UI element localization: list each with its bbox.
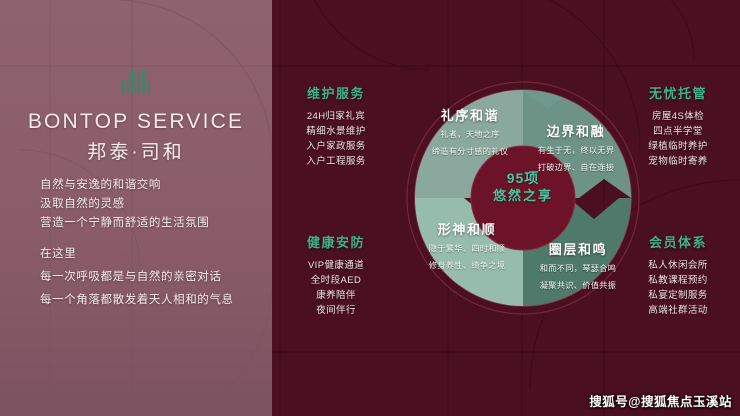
service-item: 入户家政服务 bbox=[288, 139, 384, 154]
service-title: 维护服务 bbox=[288, 83, 384, 102]
tagline-line: 每一次呼吸都是与自然的亲密对话 bbox=[40, 266, 260, 289]
service-item: 全时段AED bbox=[288, 273, 384, 288]
service-title: 无忧托管 bbox=[630, 83, 726, 102]
service-item: 康养陪伴 bbox=[288, 288, 384, 303]
hub-count: 95项 bbox=[473, 169, 573, 187]
tagline-line: 在这里 bbox=[40, 243, 260, 266]
quadrant-title: 边界和融 bbox=[516, 121, 636, 140]
quadrant-title: 形神和顺 bbox=[406, 219, 528, 238]
quadrant-label-bottom-right: 圈层和鸣 和而不同，琴瑟合鸣 凝聚共识、价值共振 bbox=[516, 239, 640, 292]
service-column-member[interactable]: 会员体系 私人休闲会所 私教课程预约 私宴定制服务 高端社群活动 bbox=[630, 232, 726, 318]
service-title: 会员体系 bbox=[630, 232, 726, 251]
service-item: 绿植临时养护 bbox=[630, 139, 726, 154]
tagline-line: 营造一个宁静而舒适的生活氛围 bbox=[40, 214, 260, 233]
watermark: 搜狐号@搜狐焦点玉溪站 bbox=[589, 391, 732, 410]
quadrant-line: 礼者，天地之序 bbox=[410, 128, 530, 141]
service-item: 入户工程服务 bbox=[288, 154, 384, 169]
slide-canvas: BONTOP SERVICE 邦泰·司和 自然与安逸的和谐交响 汲取自然的灵感 … bbox=[0, 0, 740, 416]
quadrant-label-top-right: 边界和融 有生于无，终以无界 打破边界、自在连接 bbox=[516, 121, 636, 174]
quadrant-title: 圈层和鸣 bbox=[516, 239, 640, 258]
service-item: 高端社群活动 bbox=[630, 303, 726, 318]
left-brand-panel: BONTOP SERVICE 邦泰·司和 自然与安逸的和谐交响 汲取自然的灵感 … bbox=[0, 0, 272, 416]
brand-name-en: BONTOP SERVICE bbox=[0, 110, 272, 134]
service-column-maintenance[interactable]: 维护服务 24H归家礼宾 精细水景维护 入户家政服务 入户工程服务 bbox=[288, 83, 384, 169]
service-item: 精细水景维护 bbox=[288, 124, 384, 139]
service-item: 宠物临时寄养 bbox=[630, 154, 726, 169]
quadrant-label-bottom-left: 形神和顺 隐于繁华、四时和顺 修身养性、绮争之境 bbox=[406, 219, 528, 272]
service-column-custody[interactable]: 无忧托管 房屋4S体检 四点半学堂 绿植临时养护 宠物临时寄养 bbox=[630, 83, 726, 169]
quadrant-line: 隐于繁华、四时和顺 bbox=[406, 242, 528, 255]
service-item: 房屋4S体检 bbox=[630, 109, 726, 124]
wheel-hub-text: 95项 悠然之享 bbox=[473, 169, 573, 205]
service-item: 四点半学堂 bbox=[630, 124, 726, 139]
quadrant-line: 和而不同，琴瑟合鸣 bbox=[516, 262, 640, 275]
service-item: 夜间伴行 bbox=[288, 303, 384, 318]
tagline-line: 汲取自然的灵感 bbox=[40, 195, 260, 214]
brand-tagline: 自然与安逸的和谐交响 汲取自然的灵感 营造一个宁静而舒适的生活氛围 在这里 每一… bbox=[40, 176, 260, 312]
quadrant-line: 凝聚共识、价值共振 bbox=[516, 279, 640, 292]
hub-label: 悠然之享 bbox=[473, 187, 573, 205]
brand-name-cn: 邦泰·司和 bbox=[0, 137, 272, 164]
service-column-health[interactable]: 健康安防 VIP健康通道 全时段AED 康养陪伴 夜间伴行 bbox=[288, 232, 384, 318]
service-title: 健康安防 bbox=[288, 232, 384, 251]
quadrant-line: 修身养性、绮争之境 bbox=[406, 259, 528, 272]
quadrant-line: 有生于无，终以无界 bbox=[516, 144, 636, 157]
quadrant-label-top-left: 礼序和谐 礼者，天地之序 缔造有分寸感的礼仪 bbox=[410, 105, 530, 158]
service-item: 私人休闲会所 bbox=[630, 258, 726, 273]
quadrant-line: 缔造有分寸感的礼仪 bbox=[410, 145, 530, 158]
service-item: VIP健康通道 bbox=[288, 258, 384, 273]
tagline-line: 自然与安逸的和谐交响 bbox=[40, 176, 260, 195]
tagline-line: 每一个角落都散发着天人相和的气息 bbox=[40, 289, 260, 312]
service-item: 私宴定制服务 bbox=[630, 288, 726, 303]
central-wheel-diagram[interactable]: 礼序和谐 礼者，天地之序 缔造有分寸感的礼仪 边界和融 有生于无，终以无界 打破… bbox=[404, 79, 642, 317]
service-item: 24H归家礼宾 bbox=[288, 109, 384, 124]
quadrant-title: 礼序和谐 bbox=[410, 105, 530, 124]
brand-mark-icon bbox=[0, 68, 272, 94]
service-item: 私教课程预约 bbox=[630, 273, 726, 288]
